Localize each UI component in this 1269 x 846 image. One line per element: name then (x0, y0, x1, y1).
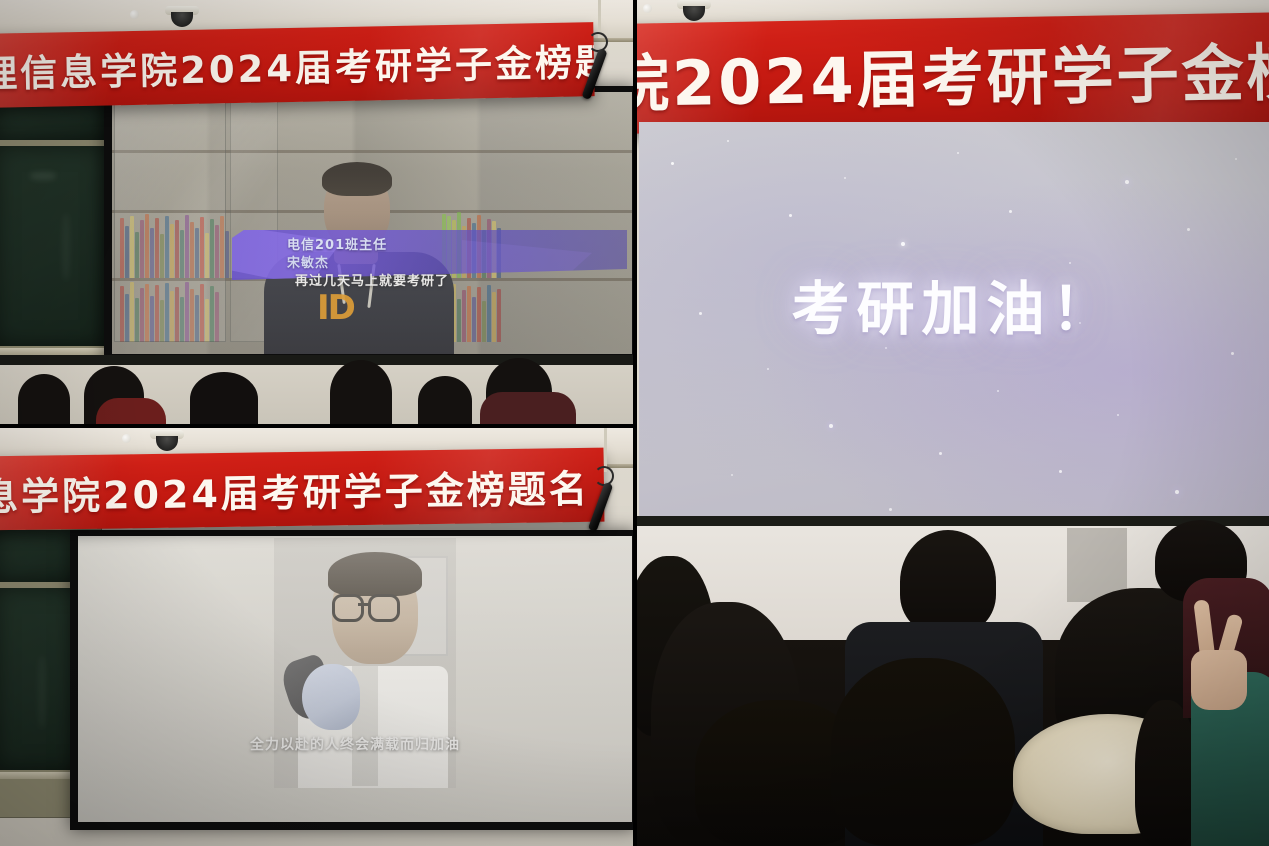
ceiling-light-icon (130, 10, 139, 19)
audience-head-center (900, 530, 996, 634)
congrats-banner-right: 院2024届考研学子金榜题名 (635, 12, 1269, 134)
audience-shoulder (480, 392, 576, 426)
congrats-banner-top-left: 理信息学院2024届考研学子金榜题名 (0, 22, 595, 108)
blue-glove (302, 664, 360, 730)
audience-shoulder (96, 398, 166, 426)
books-shelf-4 (442, 282, 562, 342)
dome-camera-icon (165, 6, 199, 32)
projection-screen-right: 考研加油！ (639, 122, 1269, 522)
speaker-hair (322, 162, 392, 196)
cabinet-glass-left (114, 98, 226, 342)
projection-screen-bottom-left: 全力以赴的人终会满载而归加油 (78, 536, 632, 822)
ceiling-light-icon (643, 4, 652, 13)
hoodie-logo: ID (317, 288, 354, 328)
audience-head (18, 374, 70, 426)
collage-panel-top-left: ID 电信201班主任 宋敏杰 再过几天马上就要考研了 (0, 0, 635, 426)
video-subtitle-bottom-left: 全力以赴的人终会满载而归加油 (78, 734, 632, 754)
dome-camera-icon (150, 430, 184, 456)
speaker-hair (328, 552, 422, 596)
video-subtitle-top-left: 再过几天马上就要考研了 (112, 270, 632, 289)
blackboard-main (0, 146, 104, 346)
projection-screen-top-left: ID 电信201班主任 宋敏杰 再过几天马上就要考研了 (112, 92, 632, 354)
audience-long-hair (831, 658, 1015, 846)
lower-third-line1: 电信201班主任 (287, 234, 387, 253)
banner-text-bottom-left: 息学院2024届考研学子金榜题名 (0, 457, 590, 521)
peace-sign-icon (1183, 600, 1257, 710)
projected-video-top-left: ID 电信201班主任 宋敏杰 再过几天马上就要考研了 (112, 92, 632, 354)
chalk-ledge (0, 348, 110, 355)
audience-head (418, 376, 472, 426)
banner-text-top-left: 理信息学院2024届考研学子金榜题名 (0, 31, 595, 98)
audience-head (330, 360, 392, 426)
collage-panel-bottom-left: 全力以赴的人终会满载而归加油 息学院2024届考研学子金榜题名 (0, 426, 635, 846)
collage-divider-horizontal (0, 424, 635, 428)
banner-text-right: 院2024届考研学子金榜题名 (635, 20, 1269, 125)
collage-divider-vertical (633, 0, 637, 846)
collage-panel-right: 院2024届考研学子金榜题名 (635, 0, 1269, 846)
ceiling-light-icon (122, 434, 131, 443)
glasses-icon (332, 594, 420, 618)
audience-ponytail (1135, 700, 1197, 846)
lower-third-line2: 宋敏杰 (287, 252, 329, 271)
audience-head (190, 372, 258, 426)
slide-headline: 考研加油！ (639, 262, 1269, 346)
photo-collage: ID 电信201班主任 宋敏杰 再过几天马上就要考研了 (0, 0, 1269, 846)
congrats-banner-bottom-left: 息学院2024届考研学子金榜题名 (0, 448, 604, 531)
